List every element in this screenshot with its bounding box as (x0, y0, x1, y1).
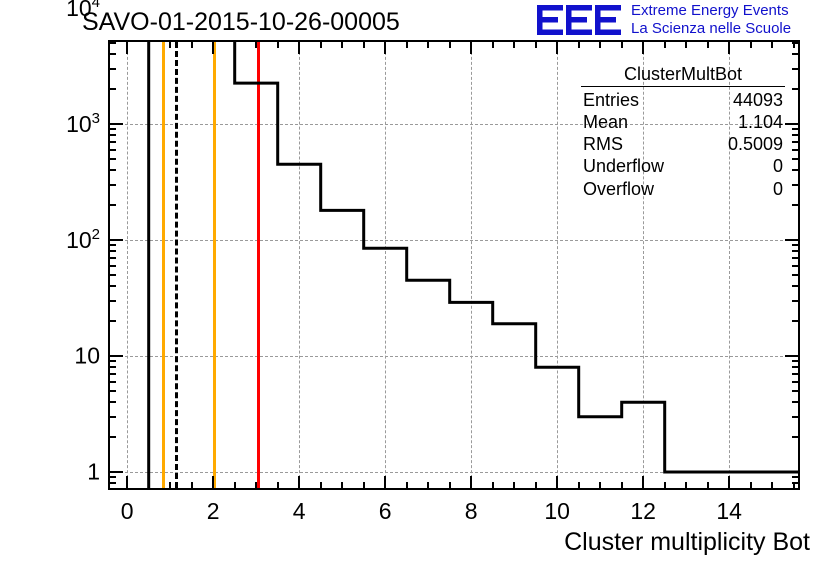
x-axis-tick (277, 482, 279, 490)
y-axis-tick (792, 244, 800, 246)
y-axis-tick (792, 141, 800, 143)
x-axis-tick (621, 40, 623, 48)
x-axis-tick (320, 40, 322, 48)
y-axis-tick (108, 244, 116, 246)
y-axis-tick (785, 239, 800, 241)
x-axis-tick (148, 482, 150, 490)
x-axis-label: 14 (716, 498, 742, 525)
x-axis-tick (191, 40, 193, 48)
x-axis-tick (707, 482, 709, 490)
stats-row-value: 1.104 (738, 111, 783, 133)
root-canvas: SAVO-01-2015-10-26-00005 Extreme Energy … (0, 0, 836, 572)
x-axis-tick (771, 482, 773, 490)
stats-row-name: Entries (583, 89, 639, 111)
x-axis-label: 2 (207, 498, 220, 525)
y-axis-tick (108, 373, 116, 375)
stats-row-name: Underflow (583, 155, 664, 177)
y-axis-label: 1 (87, 459, 100, 486)
x-axis-tick (707, 40, 709, 48)
y-axis-tick (792, 158, 800, 160)
y-axis-tick (108, 360, 116, 362)
y-axis-tick (108, 257, 116, 259)
x-axis-tick (341, 40, 343, 48)
x-axis-tick (169, 482, 171, 490)
x-axis-tick (148, 40, 150, 48)
y-axis-tick (792, 360, 800, 362)
y-axis-tick (792, 373, 800, 375)
y-axis-label: 103 (66, 110, 100, 138)
x-axis-tick (750, 40, 752, 48)
x-axis-tick (191, 482, 193, 490)
x-axis-tick (621, 482, 623, 490)
x-axis-tick (685, 482, 687, 490)
x-axis-tick (298, 40, 300, 54)
x-axis-tick (599, 40, 601, 48)
stats-row: Entries44093 (575, 89, 791, 111)
stats-row-value: 0 (773, 178, 783, 200)
x-axis-tick (535, 40, 537, 48)
y-axis-tick (108, 482, 116, 484)
x-axis-tick (126, 40, 128, 54)
x-axis-tick (470, 476, 472, 490)
y-axis-tick (792, 88, 800, 90)
x-axis-tick (320, 482, 322, 490)
stats-row-value: 0.5009 (728, 133, 783, 155)
x-axis-tick (513, 482, 515, 490)
x-axis-tick (556, 476, 558, 490)
y-axis-tick (108, 390, 116, 392)
y-axis-tick (108, 355, 123, 357)
x-axis-tick (535, 482, 537, 490)
y-axis-tick (792, 257, 800, 259)
x-axis-tick (298, 476, 300, 490)
y-axis-tick (792, 169, 800, 171)
y-axis-tick (108, 149, 116, 151)
stats-rows: Entries44093Mean1.104RMS0.5009Underflow0… (575, 89, 791, 200)
stats-row: RMS0.5009 (575, 133, 791, 155)
y-axis-tick (108, 436, 116, 438)
x-axis-label: 10 (544, 498, 570, 525)
x-axis-tick (513, 40, 515, 48)
x-axis-tick (685, 40, 687, 48)
x-axis-label: 0 (121, 498, 134, 525)
x-axis-tick (126, 476, 128, 490)
y-axis-tick (792, 285, 800, 287)
y-axis-label: 10 (74, 343, 100, 370)
y-axis-tick (108, 128, 116, 130)
x-axis-tick (642, 476, 644, 490)
y-axis-tick (792, 184, 800, 186)
x-axis-tick (492, 482, 494, 490)
y-axis-tick (108, 53, 116, 55)
x-axis-tick (449, 482, 451, 490)
x-axis-tick (363, 40, 365, 48)
y-axis-tick (108, 88, 116, 90)
x-axis-tick (664, 40, 666, 48)
y-axis-tick (108, 184, 116, 186)
stats-row-name: Mean (583, 111, 628, 133)
y-axis-tick (792, 300, 800, 302)
y-axis-tick (792, 53, 800, 55)
y-axis-tick (108, 204, 116, 206)
y-axis-tick (792, 482, 800, 484)
y-axis-tick (792, 204, 800, 206)
y-axis-tick (785, 471, 800, 473)
y-axis-tick (792, 128, 800, 130)
y-axis-tick (108, 300, 116, 302)
stats-box: ClusterMultBot Entries44093Mean1.104RMS0… (575, 64, 791, 200)
x-axis-tick (427, 482, 429, 490)
x-axis-tick (384, 40, 386, 54)
stats-row: Overflow0 (575, 178, 791, 200)
y-axis-tick (108, 123, 123, 125)
y-axis-tick (108, 250, 116, 252)
y-axis-tick (108, 134, 116, 136)
x-axis-tick (255, 40, 257, 48)
y-axis-tick (108, 416, 116, 418)
x-axis-label: 4 (293, 498, 306, 525)
x-axis-tick (384, 476, 386, 490)
y-axis-tick (108, 141, 116, 143)
x-axis-tick (363, 482, 365, 490)
stats-row-value: 0 (773, 155, 783, 177)
y-axis-tick (792, 476, 800, 478)
stats-box-title: ClusterMultBot (581, 64, 785, 87)
y-axis-label: 104 (66, 0, 100, 22)
x-axis-tick (277, 40, 279, 48)
y-axis-tick (108, 366, 116, 368)
y-axis-tick (108, 239, 123, 241)
y-axis-tick (108, 169, 116, 171)
y-axis-tick (108, 381, 116, 383)
y-axis-tick (792, 320, 800, 322)
y-axis-tick (792, 265, 800, 267)
x-axis-tick (341, 482, 343, 490)
y-axis-tick (108, 265, 116, 267)
y-axis-tick (792, 250, 800, 252)
x-axis-tick (728, 40, 730, 54)
x-axis-tick (642, 40, 644, 54)
x-axis-tick (406, 482, 408, 490)
y-axis-tick (792, 134, 800, 136)
y-axis-tick (792, 68, 800, 70)
y-axis-tick (108, 285, 116, 287)
stats-row: Underflow0 (575, 155, 791, 177)
x-axis-tick (255, 482, 257, 490)
x-axis-tick (750, 482, 752, 490)
x-axis-tick (728, 476, 730, 490)
y-axis-tick (108, 476, 116, 478)
y-axis-tick (792, 390, 800, 392)
x-axis-tick (427, 40, 429, 48)
x-axis-tick (212, 476, 214, 490)
y-axis-tick (792, 42, 800, 44)
y-axis-tick (108, 68, 116, 70)
y-axis-tick (108, 401, 116, 403)
x-axis-label: 12 (630, 498, 656, 525)
x-axis-tick (578, 482, 580, 490)
x-axis-tick (406, 40, 408, 48)
y-axis-tick (108, 320, 116, 322)
x-axis-tick (771, 40, 773, 48)
x-axis-tick (556, 40, 558, 54)
stats-row-name: RMS (583, 133, 623, 155)
y-axis-tick (108, 158, 116, 160)
x-axis-title: Cluster multiplicity Bot (564, 528, 810, 557)
stats-row-value: 44093 (733, 89, 783, 111)
x-axis-tick (599, 482, 601, 490)
y-axis-label: 102 (66, 226, 100, 254)
x-axis-tick (234, 40, 236, 48)
x-axis-label: 6 (379, 498, 392, 525)
y-axis-tick (792, 149, 800, 151)
x-axis-tick (664, 482, 666, 490)
x-axis-tick (449, 40, 451, 48)
y-axis-tick (108, 471, 123, 473)
y-axis-tick (792, 381, 800, 383)
stats-row: Mean1.104 (575, 111, 791, 133)
y-axis-tick (792, 366, 800, 368)
x-axis-tick (169, 40, 171, 48)
x-axis-label: 8 (465, 498, 478, 525)
y-axis-tick (785, 355, 800, 357)
y-axis-tick (792, 436, 800, 438)
x-axis-tick (492, 40, 494, 48)
x-axis-tick (212, 40, 214, 54)
x-axis-tick (578, 40, 580, 48)
y-axis-tick (792, 274, 800, 276)
x-axis-tick (234, 482, 236, 490)
y-axis-tick (792, 416, 800, 418)
y-axis-tick (792, 401, 800, 403)
stats-row-name: Overflow (583, 178, 654, 200)
x-axis-tick (470, 40, 472, 54)
y-axis-tick (108, 274, 116, 276)
y-axis-tick (108, 42, 116, 44)
